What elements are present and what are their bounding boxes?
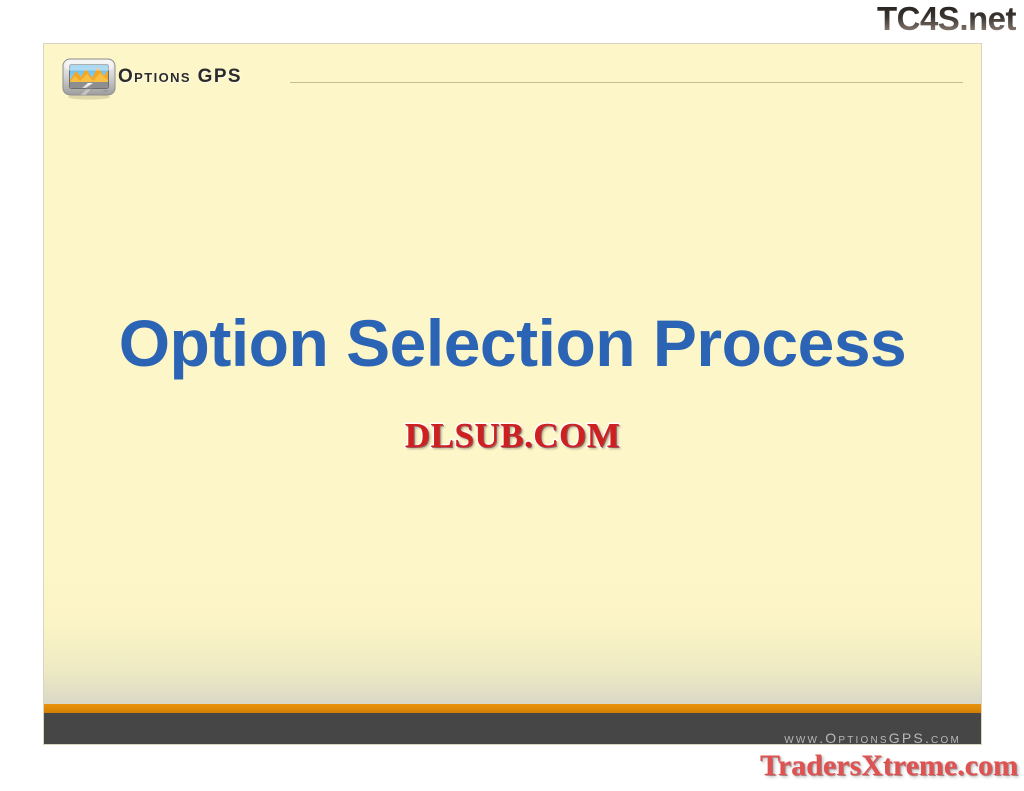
page-title: Option Selection Process (44, 309, 981, 378)
header-divider-rule (290, 82, 963, 83)
bottom-right-watermark: TradersXtreme.com (760, 749, 1018, 783)
footer-accent-stripe (44, 704, 981, 713)
presentation-slide: Options GPS Option Selection Process DLS… (43, 43, 982, 745)
brand-wordmark: Options GPS (118, 66, 242, 88)
footer-website-url: www.OptionsGPS.com (784, 730, 961, 745)
slide-footer: www.OptionsGPS.com (44, 713, 981, 744)
title-block: Option Selection Process (44, 309, 981, 378)
gps-device-icon (60, 56, 118, 100)
slide-header: Options GPS (44, 44, 981, 106)
top-right-watermark: TC4S.net (877, 0, 1016, 38)
